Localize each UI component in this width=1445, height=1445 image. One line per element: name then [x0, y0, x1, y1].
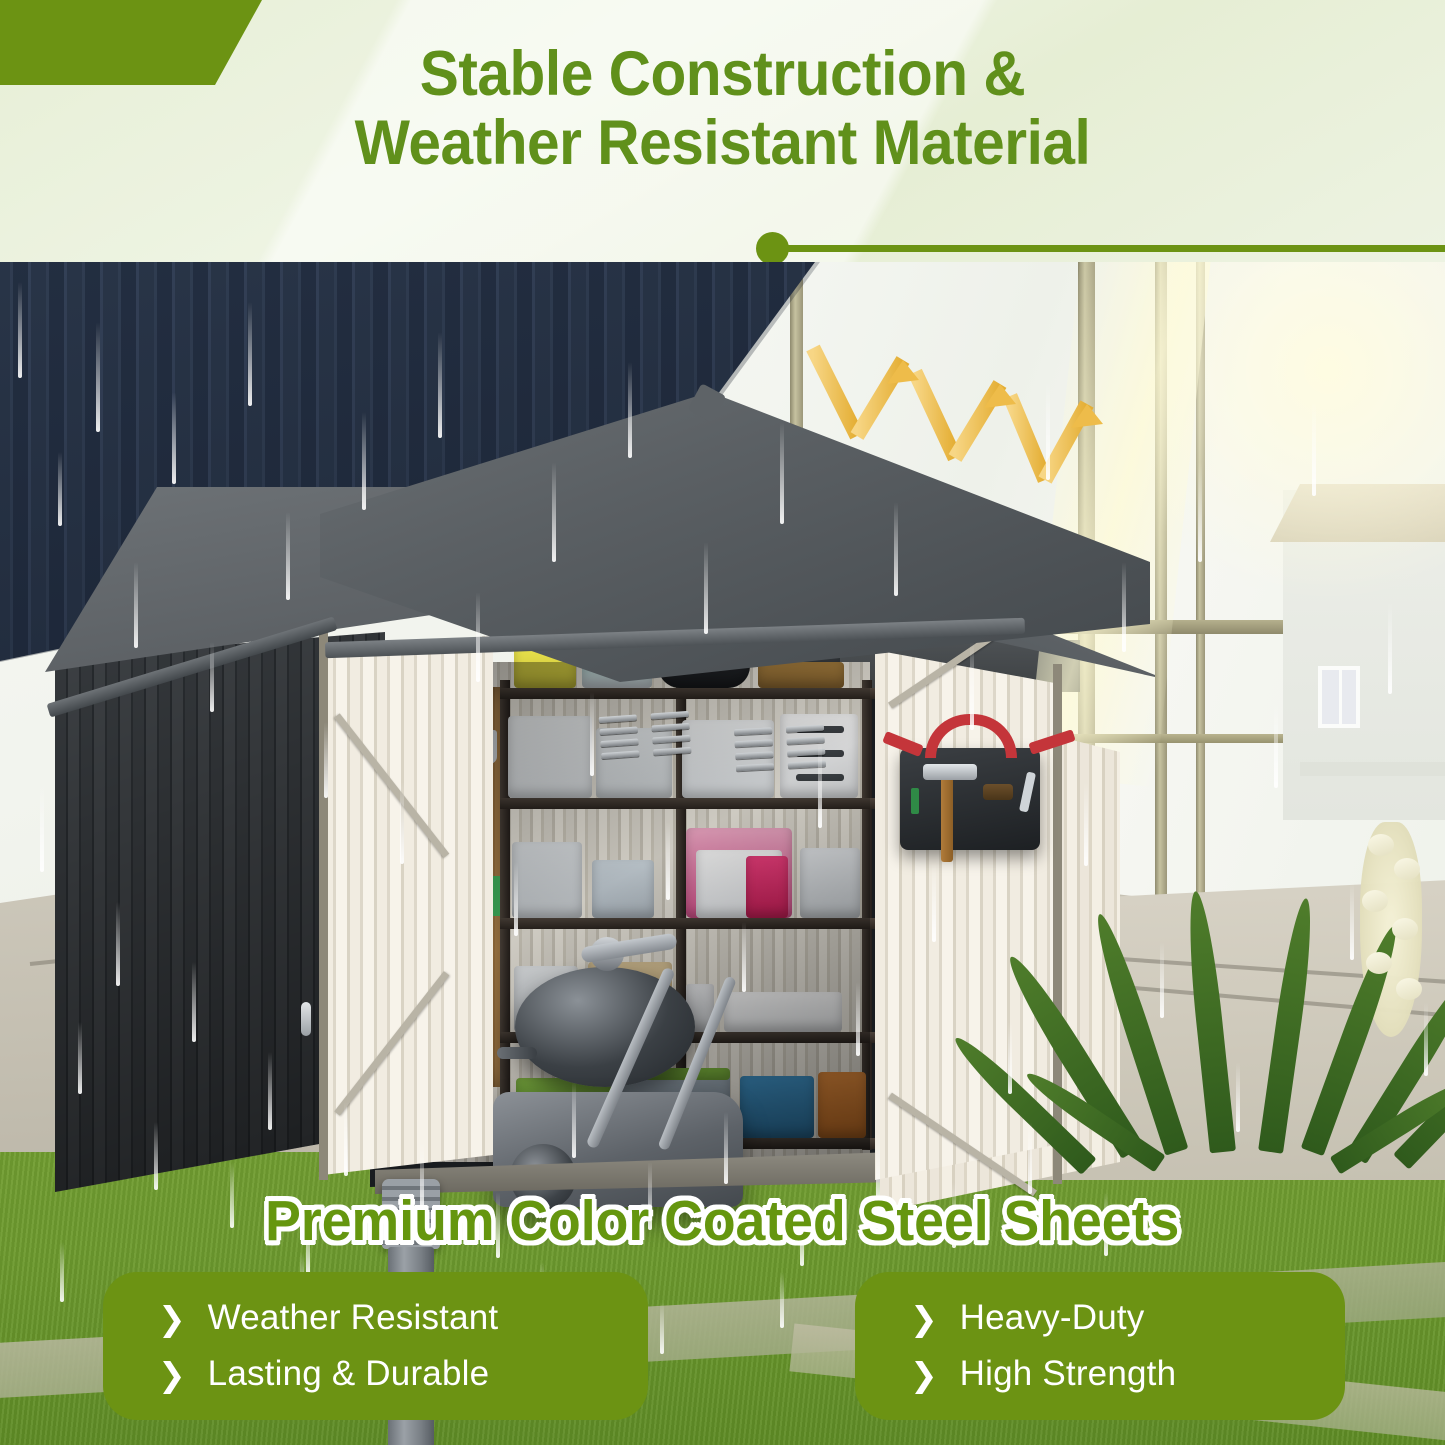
- vent-slot: [786, 725, 824, 733]
- tool-in-bag: [983, 784, 1013, 800]
- yucca-flower: [1396, 978, 1422, 1000]
- vent-slot: [599, 727, 637, 736]
- feature-label: Weather Resistant: [208, 1298, 499, 1338]
- feature-label: Heavy-Duty: [960, 1298, 1145, 1338]
- feature-item: ❯ Weather Resistant: [103, 1290, 648, 1346]
- yucca-flower: [1366, 952, 1392, 974]
- roof-vent-right: [734, 725, 826, 772]
- hammer-head: [923, 764, 977, 780]
- yucca-flower: [1368, 834, 1394, 856]
- vent-slot: [651, 711, 689, 720]
- feature-badges: ❯ Weather Resistant ❯ Lasting & Durable …: [0, 1272, 1445, 1432]
- feature-label: Lasting & Durable: [208, 1354, 490, 1394]
- vent-slot: [600, 738, 638, 747]
- product-photo: [0, 262, 1445, 1445]
- vent-slot: [787, 749, 825, 757]
- vent-slot: [734, 727, 772, 735]
- roof-vent-left: [599, 711, 692, 759]
- tool-in-bag: [911, 788, 919, 814]
- reflection-arrow-svg: [795, 340, 1125, 500]
- accent-rule: [760, 245, 1445, 252]
- chevron-right-icon: ❯: [158, 1302, 186, 1335]
- bbq-grill-handle: [497, 1047, 537, 1059]
- chevron-right-icon: ❯: [910, 1302, 938, 1335]
- hammer-handle: [941, 776, 953, 862]
- door-frame-edge: [319, 632, 328, 1180]
- chevron-right-icon: ❯: [158, 1358, 186, 1391]
- yucca-flower: [1392, 918, 1418, 940]
- door-handle-left[interactable]: [301, 1002, 311, 1036]
- feature-item: ❯ Heavy-Duty: [855, 1290, 1345, 1346]
- sun-flare: [1160, 262, 1445, 622]
- background-house-porch: [1300, 762, 1445, 776]
- feature-badge-right: ❯ Heavy-Duty ❯ High Strength: [855, 1272, 1345, 1420]
- background-house-window: [1318, 666, 1360, 728]
- feature-label: High Strength: [960, 1354, 1177, 1394]
- vent-slot: [787, 737, 825, 745]
- header-title-group: Stable Construction & Weather Resistant …: [0, 40, 1445, 177]
- feature-item: ❯ High Strength: [855, 1346, 1345, 1402]
- page-title-line-2: Weather Resistant Material: [51, 109, 1395, 178]
- vent-slot: [735, 751, 773, 759]
- feature-badge-left: ❯ Weather Resistant ❯ Lasting & Durable: [103, 1272, 648, 1420]
- ribbon-headline: Premium Color Coated Steel Sheets: [0, 1188, 1445, 1254]
- page-title-line-1: Stable Construction &: [51, 40, 1395, 109]
- garden-shed: [45, 392, 1125, 1212]
- header-banner: Stable Construction & Weather Resistant …: [0, 0, 1445, 262]
- vent-slot: [599, 715, 637, 724]
- heat-reflection-arrows: [795, 340, 1125, 500]
- ribbon-text: Premium Color Coated Steel Sheets: [265, 1188, 1179, 1254]
- vent-slot: [651, 723, 689, 732]
- yucca-flower: [1362, 890, 1388, 912]
- yucca-flower: [1394, 858, 1420, 880]
- vent-slot: [735, 739, 773, 747]
- feature-item: ❯ Lasting & Durable: [103, 1346, 648, 1402]
- vent-slot: [652, 735, 690, 744]
- chevron-right-icon: ❯: [910, 1358, 938, 1391]
- product-infographic: Stable Construction & Weather Resistant …: [0, 0, 1445, 1445]
